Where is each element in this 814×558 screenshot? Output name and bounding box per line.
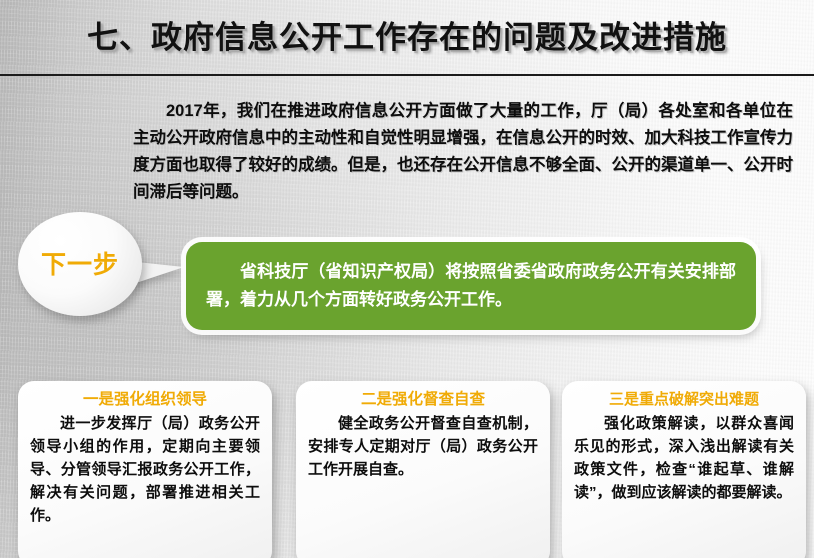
title-divider-rule — [0, 74, 814, 76]
measure-card-3-heading: 三是重点破解突出难题 — [574, 390, 794, 410]
measure-card-1-body: 进一步发挥厅（局）政务公开领导小组的作用，定期向主要领导、分管领导汇报政务公开工… — [30, 412, 260, 527]
measure-card-1-heading: 一是强化组织领导 — [30, 390, 260, 410]
page-title: 七、政府信息公开工作存在的问题及改进措施 — [87, 12, 727, 57]
intro-paragraph: 2017年，我们在推进政府信息公开方面做了大量的工作，厅（局）各处室和各单位在主… — [133, 98, 793, 206]
slide-canvas: 七、政府信息公开工作存在的问题及改进措施 2017年，我们在推进政府信息公开方面… — [0, 0, 814, 558]
next-step-speech-bubble: 下一步 — [18, 212, 142, 316]
measure-card-2-body: 健全政务公开督查自查机制，安排专人定期对厅（局）政务公开工作开展自查。 — [308, 412, 538, 481]
title-area: 七、政府信息公开工作存在的问题及改进措施 — [0, 12, 814, 57]
next-step-label: 下一步 — [18, 245, 142, 281]
measure-card-3-body: 强化政策解读，以群众喜闻乐见的形式，深入浅出解读有关政策文件，检查“谁起草、谁解… — [574, 412, 794, 504]
measure-card-1: 一是强化组织领导 进一步发挥厅（局）政务公开领导小组的作用，定期向主要领导、分管… — [18, 381, 272, 558]
next-step-banner-text: 省科技厅（省知识产权局）将按照省委省政府政务公开有关安排部署，着力从几个方面转好… — [206, 258, 736, 314]
measure-card-3: 三是重点破解突出难题 强化政策解读，以群众喜闻乐见的形式，深入浅出解读有关政策文… — [562, 381, 806, 558]
next-step-banner: 省科技厅（省知识产权局）将按照省委省政府政务公开有关安排部署，着力从几个方面转好… — [186, 242, 756, 330]
measure-card-2: 二是强化督查自查 健全政务公开督查自查机制，安排专人定期对厅（局）政务公开工作开… — [296, 381, 550, 558]
measure-card-2-heading: 二是强化督查自查 — [308, 390, 538, 410]
